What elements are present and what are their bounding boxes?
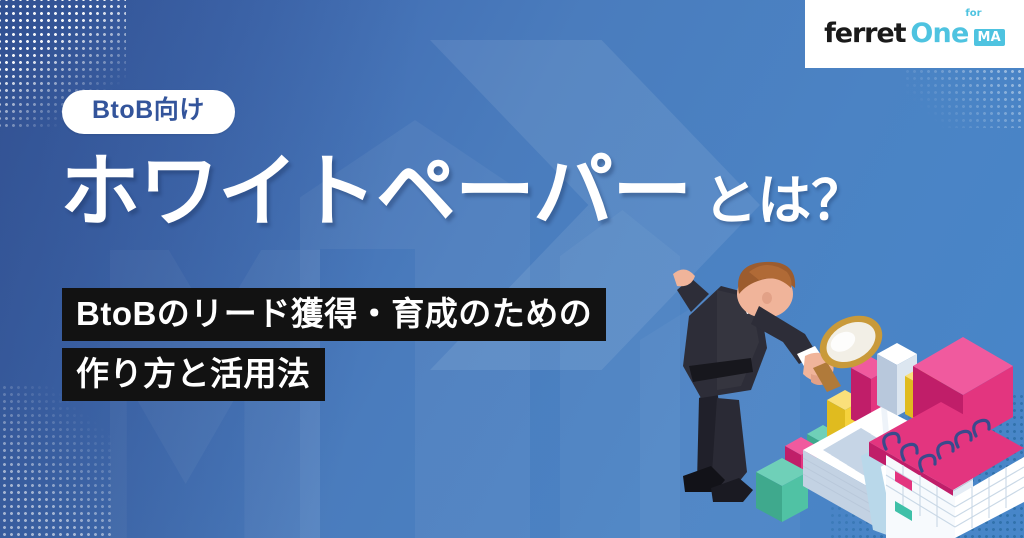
brand-logo-panel[interactable]: ferret One for MA: [805, 0, 1024, 68]
hero-illustration: [655, 250, 1024, 538]
logo-for-text: for: [965, 9, 981, 19]
halftone-dots-bottom-left: [0, 384, 114, 538]
page-title: ホワイトペーパー とは？: [60, 152, 865, 232]
halftone-dots-top-right: [904, 68, 1024, 128]
page-title-main: ホワイトペーパー: [60, 152, 691, 232]
logo-one-text: One: [910, 18, 968, 49]
logo-ferret-text: ferret: [824, 20, 905, 47]
target-audience-badge: BtoB向け: [62, 90, 235, 134]
subtitle-line-2: 作り方と活用法: [62, 348, 325, 401]
brand-logo: ferret One for MA: [824, 20, 1005, 47]
page-title-suffix: とは？: [703, 174, 865, 232]
banner-canvas: ferret One for MA BtoB向け ホワイトペーパー とは？ Bt…: [0, 0, 1024, 538]
subtitle-line-1: BtoBのリード獲得・育成のための: [62, 288, 606, 341]
logo-one-group: One for: [910, 20, 968, 47]
logo-ma-badge: MA: [974, 29, 1005, 46]
